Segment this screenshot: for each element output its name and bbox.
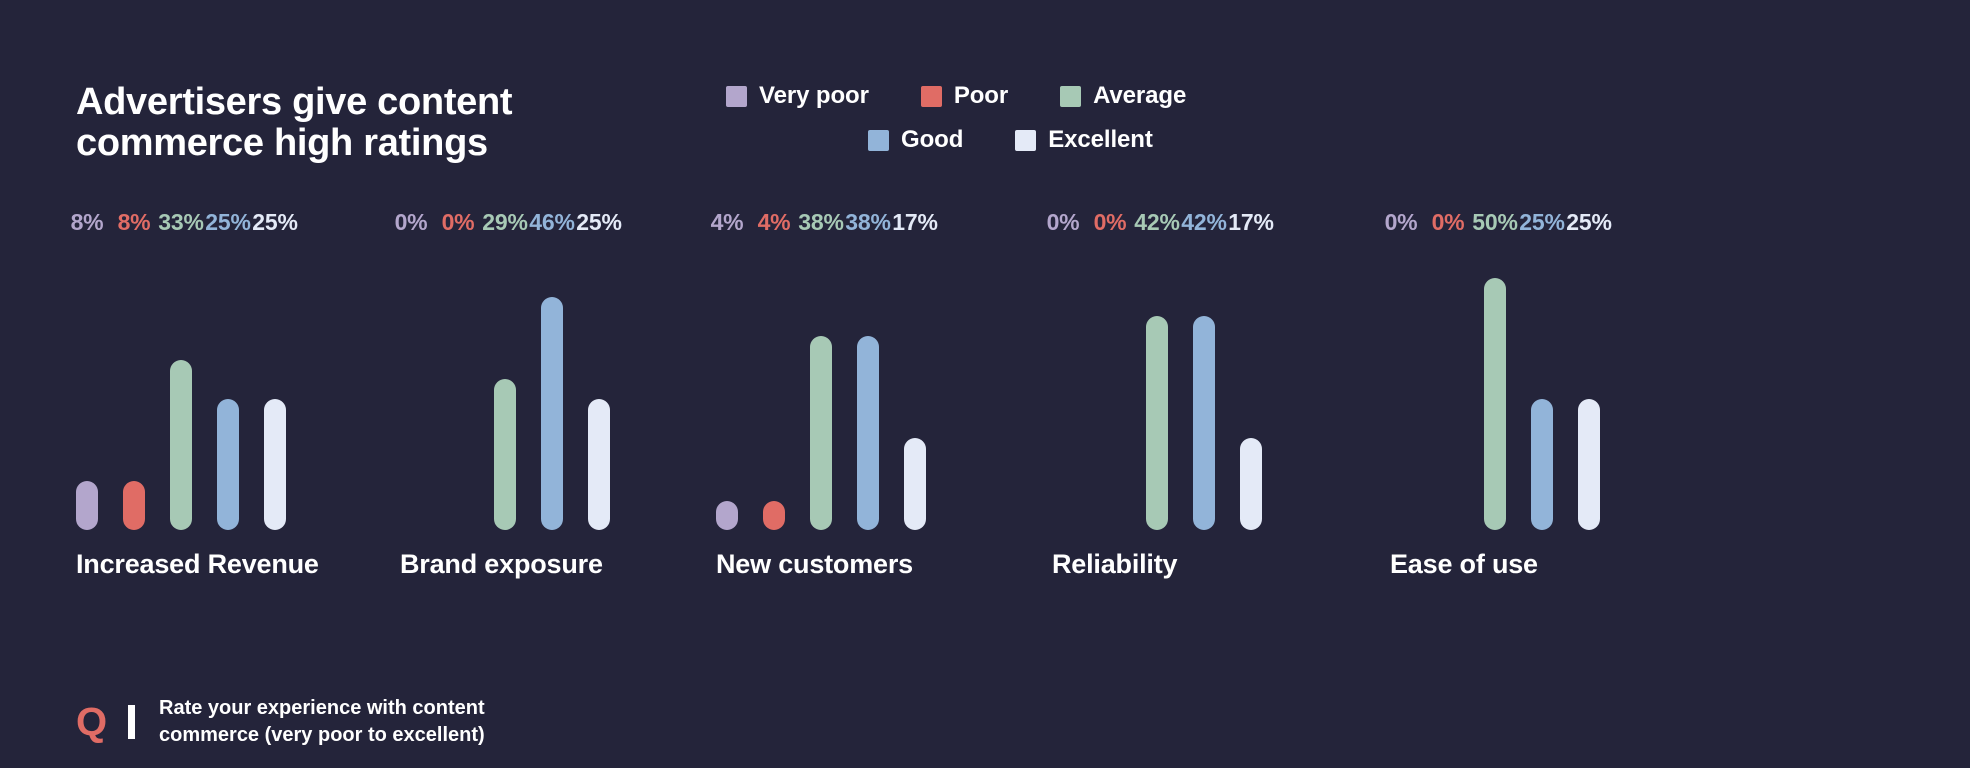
bar-slot[interactable]: 50% xyxy=(1484,240,1506,530)
bar-slot[interactable]: 0% xyxy=(447,240,469,530)
bar-value-label: 25% xyxy=(576,211,621,234)
bar-value-label: 38% xyxy=(845,211,890,234)
bar[interactable]: 25% xyxy=(217,399,239,530)
bar-value-label: 4% xyxy=(758,211,791,234)
bar[interactable]: 17% xyxy=(1240,438,1262,530)
bar[interactable]: 25% xyxy=(1531,399,1553,530)
legend-label-poor: Poor xyxy=(954,82,1008,110)
legend-row-1: Very poor Poor Average xyxy=(716,82,1336,110)
bar-value-label: 42% xyxy=(1134,211,1179,234)
page-title: Advertisers give content commerce high r… xyxy=(76,82,676,164)
bar-group-bars: 4%4%38%38%17% xyxy=(716,240,926,530)
bar-slot[interactable]: 17% xyxy=(1240,240,1262,530)
legend-row-2: Good Excellent xyxy=(716,126,1336,154)
bar-value-label: 25% xyxy=(1519,211,1564,234)
bar[interactable]: 25% xyxy=(264,399,286,530)
bar[interactable]: 50% xyxy=(1484,278,1506,530)
bar-slot[interactable]: 4% xyxy=(763,240,785,530)
bar[interactable]: 38% xyxy=(857,336,879,530)
bar-slot[interactable]: 42% xyxy=(1146,240,1168,530)
bar-slot[interactable]: 8% xyxy=(123,240,145,530)
bar-value-label: 25% xyxy=(205,211,250,234)
bar-value-label: 25% xyxy=(252,211,297,234)
legend-item-very-poor[interactable]: Very poor xyxy=(726,82,869,110)
bar-slot[interactable]: 8% xyxy=(76,240,98,530)
bar-slot[interactable]: 4% xyxy=(716,240,738,530)
legend-swatch-very-poor-icon xyxy=(726,86,747,107)
chart-header: Advertisers give content commerce high r… xyxy=(0,0,1970,200)
bar-value-label: 0% xyxy=(1385,211,1418,234)
legend-label-excellent: Excellent xyxy=(1048,126,1153,154)
bar-slot[interactable]: 0% xyxy=(1052,240,1074,530)
footer-divider xyxy=(128,705,135,739)
bar[interactable]: 25% xyxy=(588,399,610,530)
bar[interactable]: 38% xyxy=(810,336,832,530)
legend-item-average[interactable]: Average xyxy=(1060,82,1186,110)
survey-question-text: Rate your experience with content commer… xyxy=(159,695,485,748)
legend-item-good[interactable]: Good xyxy=(868,126,963,154)
chart-figure: Advertisers give content commerce high r… xyxy=(0,0,1970,768)
q-logo-icon: Q xyxy=(76,702,128,742)
bar-group-bars: 0%0%42%42%17% xyxy=(1052,240,1262,530)
bar-slot[interactable]: 42% xyxy=(1193,240,1215,530)
bar-value-label: 0% xyxy=(1047,211,1080,234)
chart-legend: Very poor Poor Average Good Ex xyxy=(716,82,1336,154)
bar-group-bars: 0%0%29%46%25% xyxy=(400,240,610,530)
bar-slot[interactable]: 25% xyxy=(264,240,286,530)
bar-slot[interactable]: 38% xyxy=(857,240,879,530)
bar-slot[interactable]: 25% xyxy=(1578,240,1600,530)
bar[interactable]: 46% xyxy=(541,297,563,530)
bar-value-label: 38% xyxy=(798,211,843,234)
bar-value-label: 0% xyxy=(1094,211,1127,234)
bar-slot[interactable]: 0% xyxy=(1099,240,1121,530)
bar-value-label: 46% xyxy=(529,211,574,234)
chart-footer: Q Rate your experience with content comm… xyxy=(76,695,485,748)
bar-group-label: Brand exposure xyxy=(400,549,603,580)
bar[interactable]: 29% xyxy=(494,379,516,530)
bar-value-label: 17% xyxy=(1228,211,1273,234)
bar-value-label: 8% xyxy=(71,211,104,234)
bar-slot[interactable]: 46% xyxy=(541,240,563,530)
bar-value-label: 0% xyxy=(1432,211,1465,234)
bar-slot[interactable]: 25% xyxy=(588,240,610,530)
bar[interactable]: 8% xyxy=(76,481,98,530)
bar-slot[interactable]: 29% xyxy=(494,240,516,530)
bar-slot[interactable]: 33% xyxy=(170,240,192,530)
bar-slot[interactable]: 0% xyxy=(1390,240,1412,530)
bar-value-label: 0% xyxy=(442,211,475,234)
legend-label-average: Average xyxy=(1093,82,1186,110)
bar-value-label: 50% xyxy=(1472,211,1517,234)
bar-group-label: Ease of use xyxy=(1390,549,1538,580)
bar-value-label: 33% xyxy=(158,211,203,234)
bar-value-label: 25% xyxy=(1566,211,1611,234)
legend-swatch-poor-icon xyxy=(921,86,942,107)
legend-swatch-good-icon xyxy=(868,130,889,151)
bar-value-label: 17% xyxy=(892,211,937,234)
bar[interactable]: 4% xyxy=(716,501,738,530)
bar-slot[interactable]: 25% xyxy=(217,240,239,530)
bar-value-label: 8% xyxy=(118,211,151,234)
bar-group-label: Increased Revenue xyxy=(76,549,319,580)
bar[interactable]: 42% xyxy=(1193,316,1215,530)
bar-group-label: New customers xyxy=(716,549,913,580)
bar-slot[interactable]: 38% xyxy=(810,240,832,530)
bar-slot[interactable]: 17% xyxy=(904,240,926,530)
bar[interactable]: 25% xyxy=(1578,399,1600,530)
bar[interactable]: 33% xyxy=(170,360,192,530)
bar-value-label: 4% xyxy=(711,211,744,234)
bar-slot[interactable]: 0% xyxy=(1437,240,1459,530)
legend-item-excellent[interactable]: Excellent xyxy=(1015,126,1153,154)
bar[interactable]: 4% xyxy=(763,501,785,530)
bar-value-label: 29% xyxy=(482,211,527,234)
bar-value-label: 42% xyxy=(1181,211,1226,234)
bar-slot[interactable]: 0% xyxy=(400,240,422,530)
legend-swatch-excellent-icon xyxy=(1015,130,1036,151)
legend-label-very-poor: Very poor xyxy=(759,82,869,110)
legend-swatch-average-icon xyxy=(1060,86,1081,107)
bar[interactable]: 8% xyxy=(123,481,145,530)
bar-group-bars: 8%8%33%25%25% xyxy=(76,240,286,530)
chart-plot-area: 8%8%33%25%25%Increased Revenue0%0%29%46%… xyxy=(0,200,1970,600)
bar[interactable]: 42% xyxy=(1146,316,1168,530)
bar-slot[interactable]: 25% xyxy=(1531,240,1553,530)
bar[interactable]: 17% xyxy=(904,438,926,530)
bar-group-label: Reliability xyxy=(1052,549,1177,580)
legend-label-good: Good xyxy=(901,126,963,154)
legend-item-poor[interactable]: Poor xyxy=(921,82,1008,110)
bar-value-label: 0% xyxy=(395,211,428,234)
bar-group-bars: 0%0%50%25%25% xyxy=(1390,240,1600,530)
